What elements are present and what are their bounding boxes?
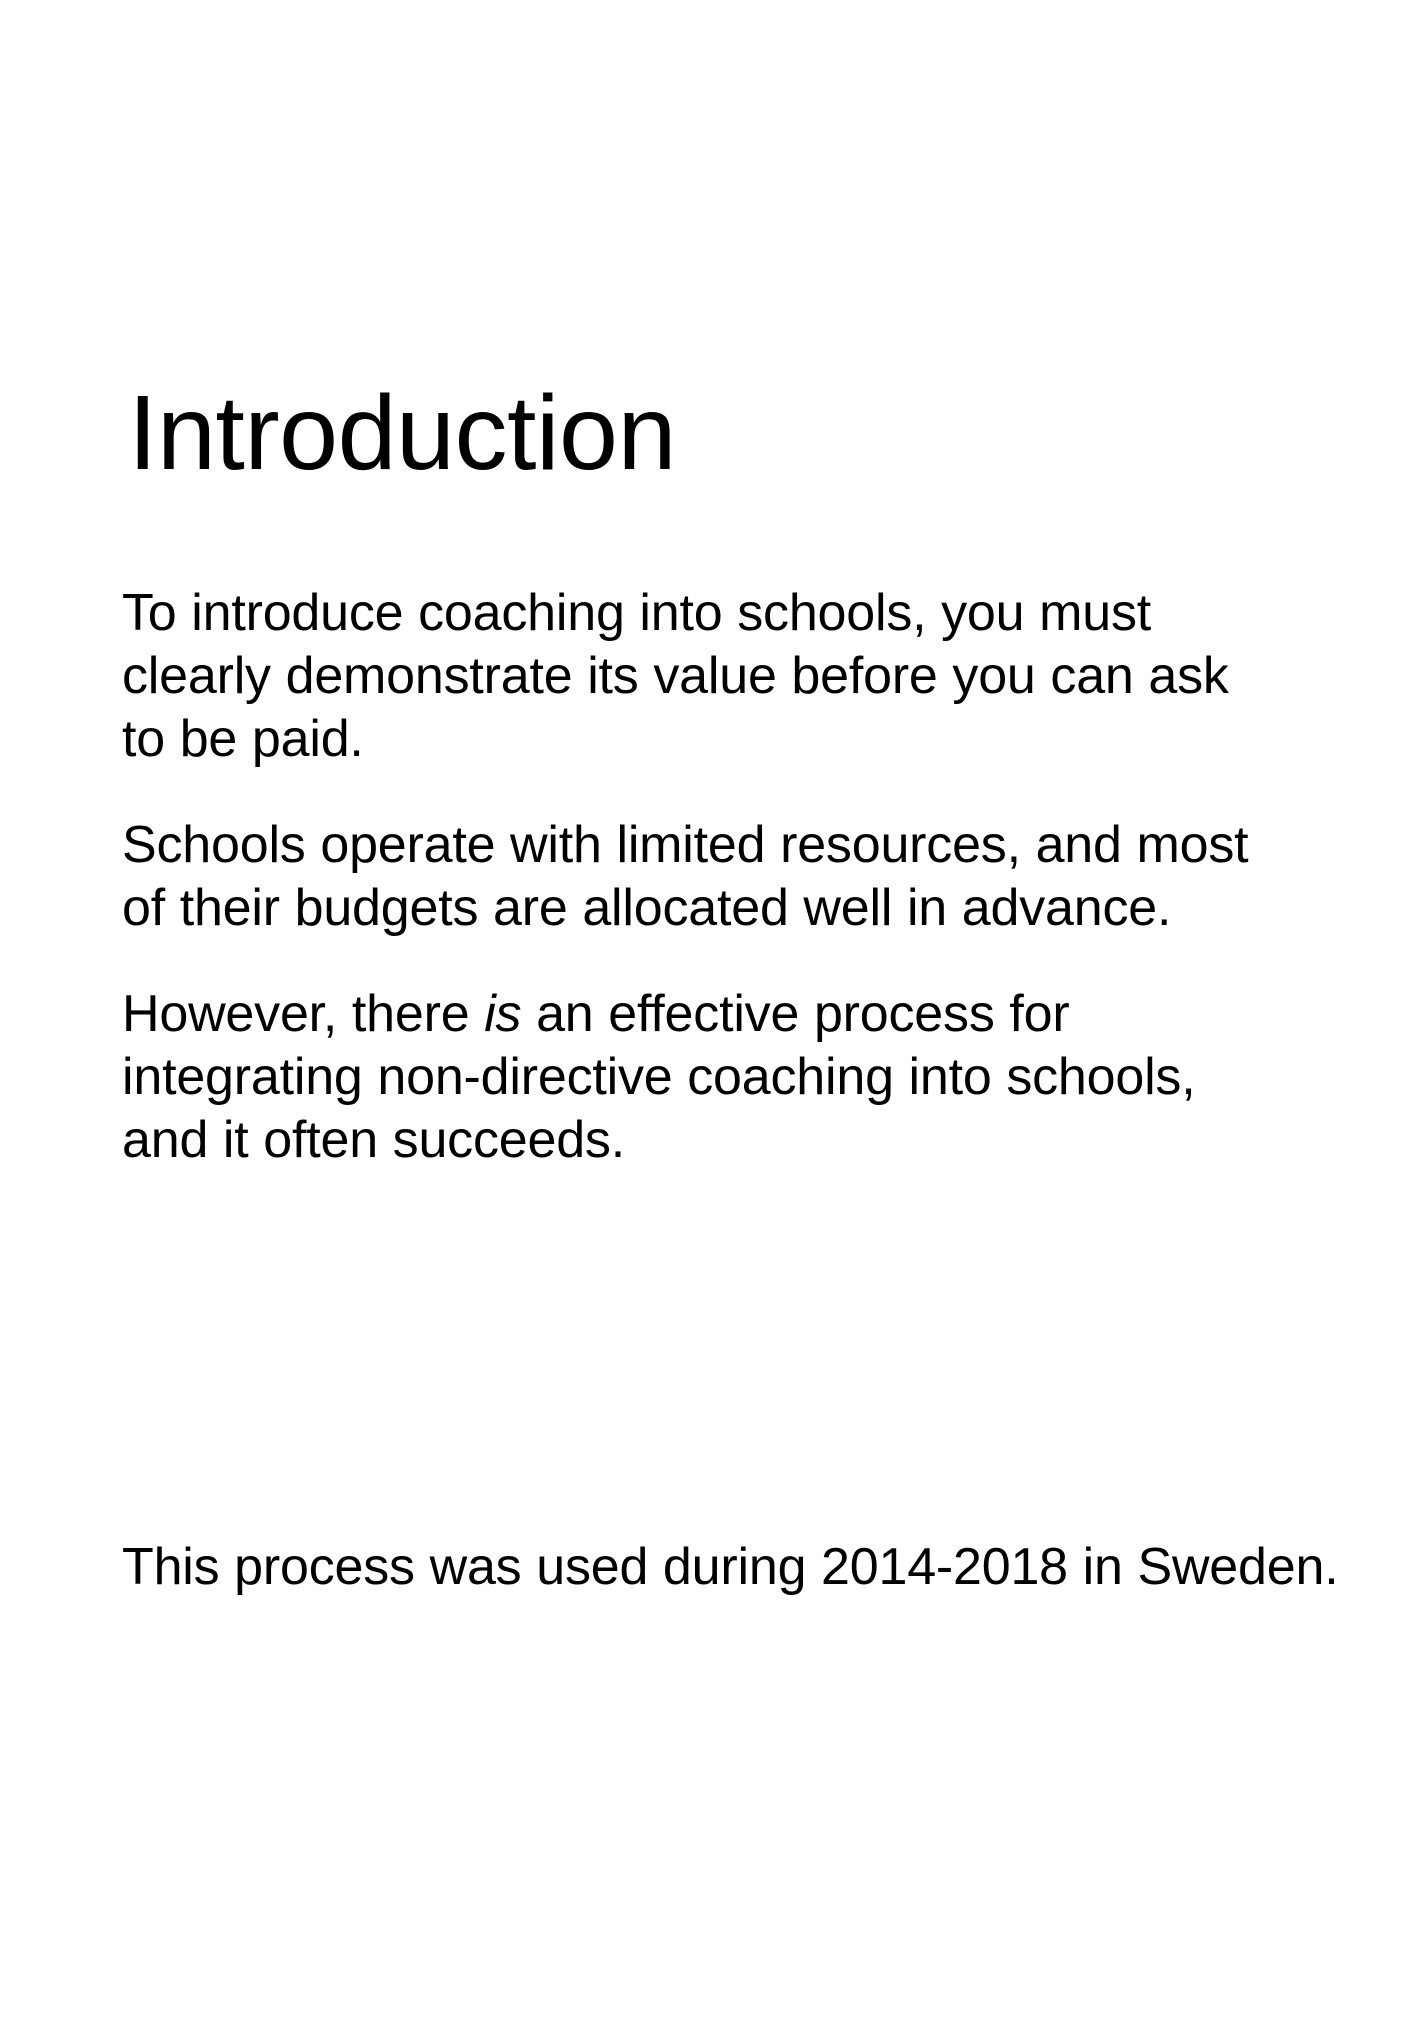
body-text-block: To introduce coaching into schools, you … bbox=[122, 582, 1252, 1172]
paragraph-3-lead: However, there bbox=[122, 985, 484, 1043]
page-title: Introduction bbox=[128, 380, 676, 486]
closing-statement: This process was used during 2014-2018 i… bbox=[122, 1536, 1302, 1599]
paragraph-2: Schools operate with limited resources, … bbox=[122, 814, 1252, 940]
paragraph-1: To introduce coaching into schools, you … bbox=[122, 582, 1252, 771]
closing-block: This process was used during 2014-2018 i… bbox=[122, 1536, 1302, 1599]
slide-page: Introduction To introduce coaching into … bbox=[0, 0, 1428, 2018]
paragraph-3: However, there is an effective process f… bbox=[122, 983, 1252, 1172]
paragraph-3-emphasis: is bbox=[484, 985, 521, 1043]
